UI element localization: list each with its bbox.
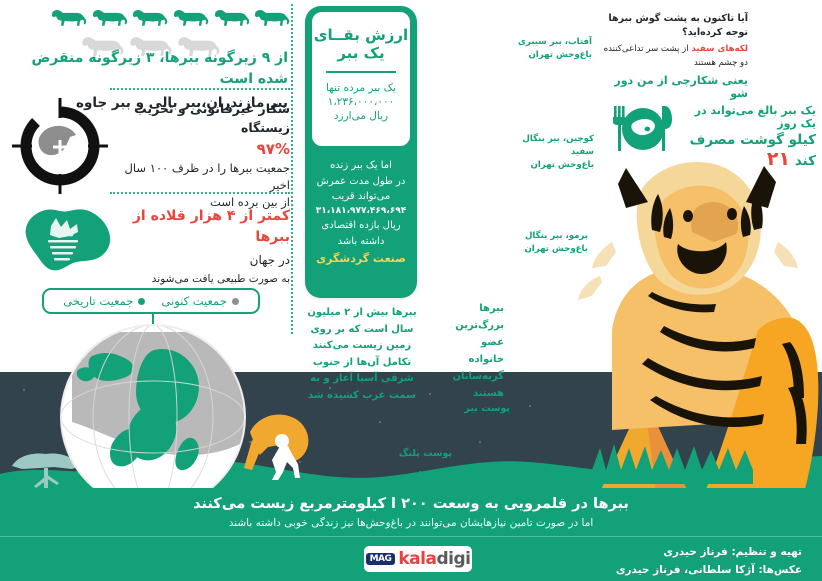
tiger-pelt-label: پوست ببر <box>460 403 510 414</box>
subspecies-line1: از ۹ زیرگونه ببرها، ۳ زیرگونه منقرض شده … <box>20 48 288 90</box>
alive-amount: ۳۱،۱۸۱،۹۷۷،۴۶۹،۶۹۴ <box>310 205 412 219</box>
tiger-illustration <box>552 150 822 500</box>
population-line3: به صورت طبیعی یافت می‌شوند <box>110 272 290 288</box>
footer-bar: تهیه و تنظیم: فرناز حیدری عکس‌ها: آژکا س… <box>0 536 822 581</box>
divider-1 <box>110 88 290 90</box>
ears-question: آیا تاکنون به پشت گوش ببرها توجه کرده‌ای… <box>596 12 748 41</box>
tiger-photo-aftab-label: آفتاب، ببر سیبری باغ‌وحش تهران <box>518 36 592 62</box>
crosshair-target-icon <box>10 96 110 196</box>
logo-mag-badge: MAG <box>366 553 396 565</box>
tiger-row-green <box>50 6 290 32</box>
divider-2 <box>110 192 290 194</box>
poaching-percent: ۹۷% <box>110 140 290 158</box>
alive-line1: اما یک ببر زنده <box>310 158 412 174</box>
alive-highlight: صنعت گردشگری <box>310 252 412 265</box>
map-legend: جمعیت کنونی جمعیت تاریخی <box>42 288 260 314</box>
ears-answer-bold: یعنی شکارچی از من دور شو <box>596 74 748 100</box>
bottom-sub: اما در صورت تامین نیازهایشان می‌توانند د… <box>0 517 822 529</box>
legend-label-historic: جمعیت تاریخی <box>63 294 133 308</box>
cat-family-line1: ببرها <box>440 300 504 317</box>
footer-credits: تهیه و تنظیم: فرناز حیدری عکس‌ها: آژکا س… <box>502 544 802 580</box>
alive-line2: در طول مدت عمرش <box>310 174 412 190</box>
alive-line3: می‌تواند قریب <box>310 189 412 205</box>
value-title-1: ارزش بقــای <box>312 26 410 44</box>
credit-line-1: تهیه و تنظیم: فرناز حیدری <box>502 544 802 562</box>
poaching-line1: شکار غیرقانونی و تخریب زیستگاه <box>110 100 290 138</box>
population-text: کمتر از ۴ هزار قلاده از ببرها در جهان به… <box>110 206 290 288</box>
legend-dot-current <box>232 298 239 305</box>
bottom-headline: ببرها در قلمرویی به وسعت ۲۰۰ ا کیلومترمر… <box>0 488 822 512</box>
meat-line1: یک ببر بالغ می‌تواند در یک روز <box>682 104 816 130</box>
digikala-mag-logo[interactable]: digi kala MAG <box>364 546 472 572</box>
cat-family-line3: خانواده <box>440 351 504 368</box>
cat-family-line4: گربه‌سانان <box>440 368 504 385</box>
poaching-line2: جمعیت ببرها را در ظرف ۱۰۰ سال اخیر <box>110 160 290 195</box>
value-dead-line1: یک ببر مرده تنها <box>312 82 410 94</box>
population-line2: در جهان <box>110 251 290 269</box>
logo-kala-text: kala <box>398 549 436 569</box>
legend-dot-historic <box>138 298 145 305</box>
tiger-silhouette-icon <box>91 6 128 32</box>
alive-line5: داشته باشد <box>310 234 412 250</box>
world-globe <box>58 322 248 512</box>
tiger-value-card: ارزش بقــای یک ببر یک ببر مرده تنها ۱،۲۳… <box>310 10 412 148</box>
label-line1: آفتاب، ببر سیبری <box>518 36 592 49</box>
tiger-silhouette-icon <box>131 6 168 32</box>
tiger-silhouette-icon <box>253 6 290 32</box>
tiger-value-alive: اما یک ببر زنده در طول مدت عمرش می‌تواند… <box>310 158 412 265</box>
cat-family-line5: هستند <box>440 385 504 402</box>
leopard-pelt-label: پوست پلنگ <box>398 448 452 459</box>
label-line2: باغ‌وحش تهران <box>518 49 592 62</box>
vertical-divider <box>291 4 293 334</box>
iran-map-tiger-icon <box>18 196 118 286</box>
cat-family-text: ببرها بزرگ‌ترین عضو خانواده گربه‌سانان ه… <box>440 300 504 402</box>
value-dead-line2: ریال می‌ارزد <box>312 110 410 122</box>
evolution-text: ببرها بیش از ۲ میلیون سال است که بر روی … <box>306 305 418 404</box>
legend-label-current: جمعیت کنونی <box>161 294 226 308</box>
value-dead-amount: ۱،۲۳۶،۰۰۰،۰۰۰ <box>312 96 410 108</box>
alive-line4: ریال بازده اقتصادی <box>310 218 412 234</box>
ears-text: آیا تاکنون به پشت گوش ببرها توجه کرده‌ای… <box>596 12 748 100</box>
legend-item-current: جمعیت کنونی <box>161 294 238 308</box>
tiger-chasing-person-icon <box>236 388 316 480</box>
legend-item-historic: جمعیت تاریخی <box>63 294 145 308</box>
bottom-banner: ببرها در قلمرویی به وسعت ۲۰۰ ا کیلومترمر… <box>0 488 822 536</box>
credit-line-2: عکس‌ها: آژکا سلطانی، فرناز حیدری <box>502 562 802 580</box>
tiger-silhouette-icon <box>172 6 209 32</box>
poaching-text: شکار غیرقانونی و تخریب زیستگاه ۹۷% جمعیت… <box>110 100 290 211</box>
value-title-2: یک ببر <box>312 44 410 62</box>
ears-answer-prefix: لکه‌های سفید <box>691 44 748 54</box>
tiger-silhouette-icon <box>50 6 87 32</box>
logo-digi-text: digi <box>436 549 470 569</box>
tiger-silhouette-icon <box>213 6 250 32</box>
population-headline: کمتر از ۴ هزار قلاده از ببرها <box>110 206 290 248</box>
infographic-canvas: از ۹ زیرگونه ببرها، ۳ زیرگونه منقرض شده … <box>0 0 822 581</box>
cat-family-line2: بزرگ‌ترین عضو <box>440 317 504 351</box>
